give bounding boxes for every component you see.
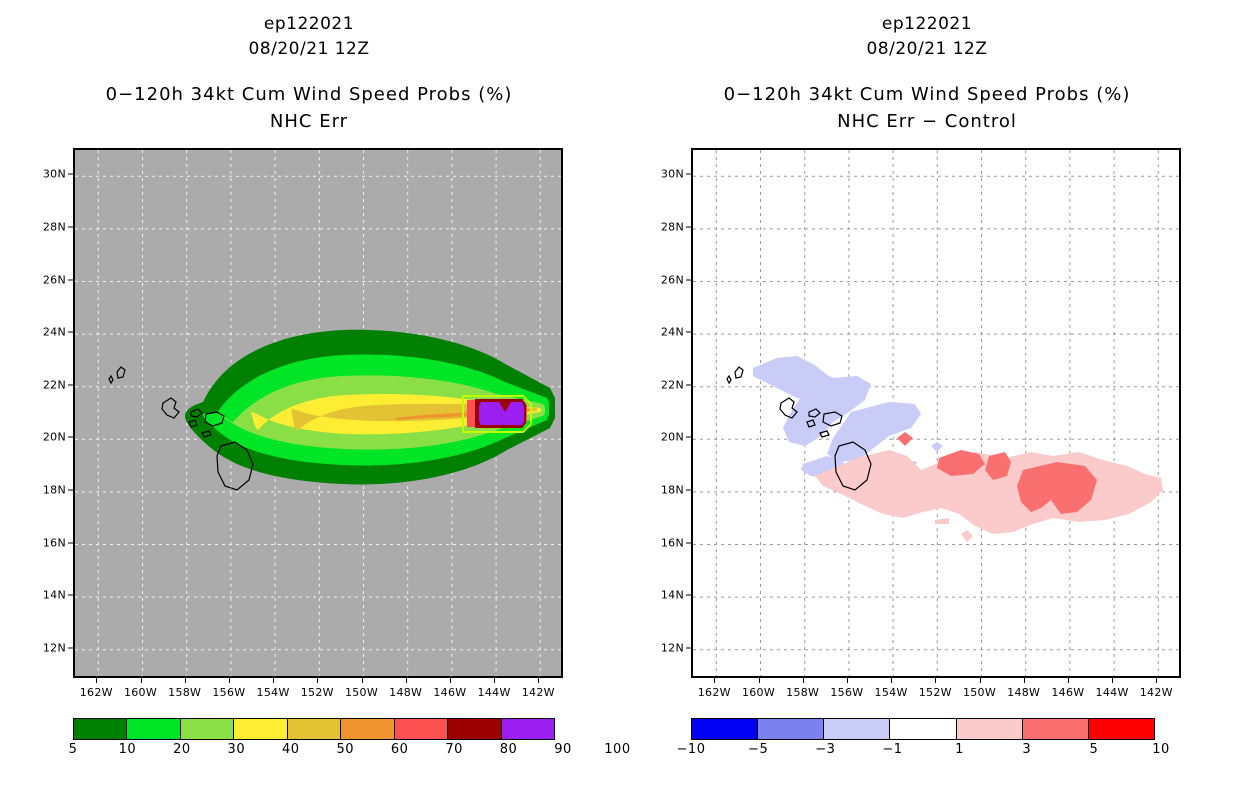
prob-colorbar-swatch-0[interactable] bbox=[73, 718, 127, 740]
prob-colorbar-tick-label: 60 bbox=[391, 742, 409, 757]
diff-colorbar-tick-label: −3 bbox=[815, 742, 835, 757]
prob-colorbar-tick-label: 90 bbox=[554, 742, 572, 757]
panel-nhc-err: ep122021 08/20/21 12Z 0−120h 34kt Cum Wi… bbox=[0, 0, 618, 800]
diff-colorbar-tick-label: 5 bbox=[1089, 742, 1098, 757]
diff-colorbar-tick-label: 3 bbox=[1022, 742, 1031, 757]
diff-colorbar-tick-label: 10 bbox=[1152, 742, 1170, 757]
datetime-left: 08/20/21 12Z bbox=[0, 37, 618, 62]
diff-colorbar-tick-label: −1 bbox=[882, 742, 902, 757]
diff-colorbar-swatch-0[interactable] bbox=[691, 718, 758, 740]
prob-colorbar-tick-label: 40 bbox=[282, 742, 300, 757]
diff-colorbar-swatch-1[interactable] bbox=[757, 718, 824, 740]
chart-subtitle-left: NHC Err bbox=[0, 108, 618, 135]
prob-colorbar-tick-label: 50 bbox=[336, 742, 354, 757]
prob-colorbar-swatch-4[interactable] bbox=[287, 718, 341, 740]
storm-id-right: ep122021 bbox=[618, 12, 1236, 37]
prob-colorbar-tick-label: 30 bbox=[228, 742, 246, 757]
chart-title-right: 0−120h 34kt Cum Wind Speed Probs (%) bbox=[618, 81, 1236, 108]
chart-subtitle-right: NHC Err − Control bbox=[618, 108, 1236, 135]
diff-colorbar-swatch-5[interactable] bbox=[1022, 718, 1089, 740]
diff-colorbar-swatch-3[interactable] bbox=[889, 718, 956, 740]
prob-colorbar-tick-label: 20 bbox=[173, 742, 191, 757]
diff-colorbar-tick-label: −5 bbox=[748, 742, 768, 757]
diff-colorbar-tick-label: 1 bbox=[955, 742, 964, 757]
prob-colorbar-tick-label: 10 bbox=[119, 742, 137, 757]
prob-colorbar-tick-label: 80 bbox=[500, 742, 518, 757]
prob-colorbar-tick-label: 5 bbox=[69, 742, 78, 757]
prob-colorbar-swatch-6[interactable] bbox=[394, 718, 448, 740]
axis-left: 30N 28N 26N 24N 22N 20N 18N 16N 14N 12N … bbox=[73, 148, 563, 678]
datetime-right: 08/20/21 12Z bbox=[618, 37, 1236, 62]
panel-nhc-err-minus-control: ep122021 08/20/21 12Z 0−120h 34kt Cum Wi… bbox=[618, 0, 1236, 800]
colorbar-probability[interactable]: 5102030405060708090100 bbox=[73, 718, 563, 740]
prob-colorbar-swatch-2[interactable] bbox=[180, 718, 234, 740]
prob-colorbar-swatch-5[interactable] bbox=[340, 718, 394, 740]
diff-colorbar-swatch-4[interactable] bbox=[956, 718, 1023, 740]
panel-right-titles: ep122021 08/20/21 12Z 0−120h 34kt Cum Wi… bbox=[618, 0, 1236, 135]
diff-colorbar-swatch-2[interactable] bbox=[823, 718, 890, 740]
diff-colorbar-tick-label: −10 bbox=[677, 742, 706, 757]
prob-colorbar-tick-label: 70 bbox=[445, 742, 463, 757]
panel-left-titles: ep122021 08/20/21 12Z 0−120h 34kt Cum Wi… bbox=[0, 0, 618, 135]
wind-speed-probability-figure: ep122021 08/20/21 12Z 0−120h 34kt Cum Wi… bbox=[0, 0, 1236, 800]
diff-colorbar-swatch-6[interactable] bbox=[1088, 718, 1155, 740]
prob-colorbar-swatch-7[interactable] bbox=[447, 718, 501, 740]
prob-colorbar-swatch-1[interactable] bbox=[126, 718, 180, 740]
axis-right: 30N 28N 26N 24N 22N 20N 18N 16N 14N 12N … bbox=[691, 148, 1181, 678]
prob-colorbar-swatch-8[interactable] bbox=[501, 718, 555, 740]
chart-title-left: 0−120h 34kt Cum Wind Speed Probs (%) bbox=[0, 81, 618, 108]
prob-colorbar-swatch-3[interactable] bbox=[233, 718, 287, 740]
storm-id-left: ep122021 bbox=[0, 12, 618, 37]
colorbar-difference[interactable]: −10−5−3−113510 bbox=[691, 718, 1161, 740]
